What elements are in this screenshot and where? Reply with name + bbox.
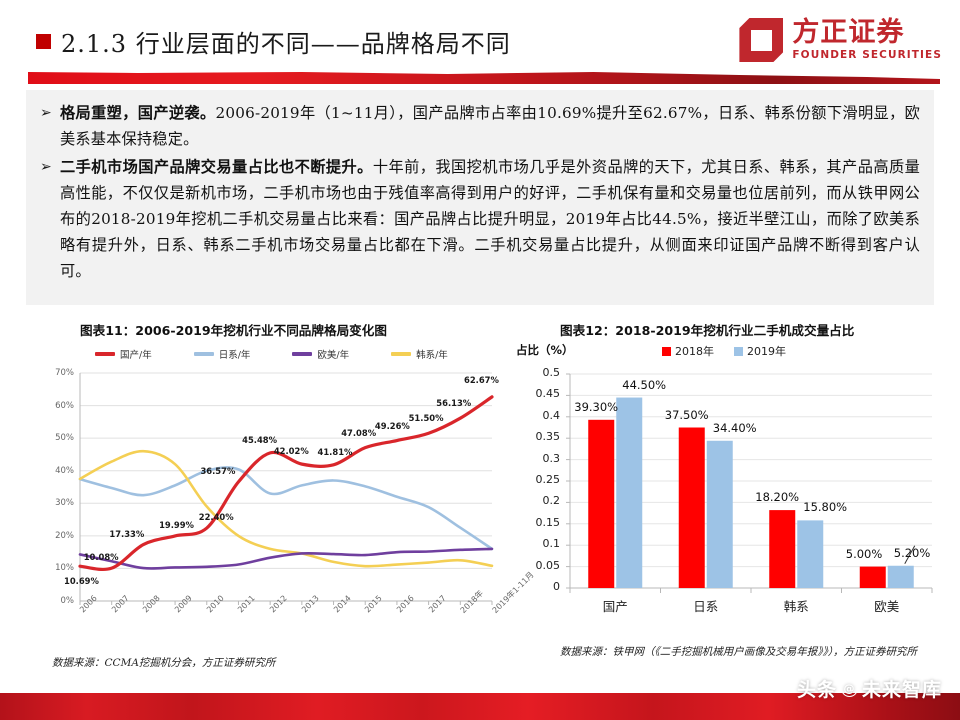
y-axis-tick-label: 0.15	[522, 516, 560, 529]
bullet-lead: 二手机市场国产品牌交易量占比也不断提升。	[60, 158, 373, 176]
bar-data-label: 44.50%	[622, 378, 666, 392]
bar-欧美-2018年	[860, 567, 886, 588]
logo-english-name: FOUNDER SECURITIES	[792, 49, 942, 61]
legend-label: 2018年	[675, 343, 714, 359]
bullet-body: 十年前，我国挖机市场几乎是外资品牌的天下，尤其日系、韩系，其产品高质量高性能，不…	[60, 158, 920, 280]
slide: 2.1.3 行业层面的不同——品牌格局不同 方正证券 FOUNDER SECUR…	[0, 0, 960, 720]
slide-header: 2.1.3 行业层面的不同——品牌格局不同 方正证券 FOUNDER SECUR…	[0, 0, 960, 86]
data-label-domestic: 10.69%	[64, 576, 99, 586]
bar-chart-y-axis-label: 占比（%）	[516, 342, 574, 358]
title-bullet-marker-icon	[36, 34, 51, 49]
bar-data-label: 18.20%	[755, 490, 799, 504]
data-label-domestic: 51.50%	[409, 413, 444, 423]
legend-item-2: 欧美/年	[292, 347, 349, 361]
data-label-domestic: 10.08%	[84, 552, 119, 562]
legend-label: 欧美/年	[317, 347, 349, 361]
legend-label: 日系/年	[219, 347, 251, 361]
bar-data-label: 5.00%	[846, 547, 883, 561]
y-axis-tick-label: 40%	[40, 466, 74, 476]
y-axis-tick-label: 20%	[40, 531, 74, 541]
y-axis-tick-label: 0.1	[522, 537, 560, 550]
bar-data-label: 5.20%	[894, 546, 931, 560]
figure-12-source: 数据来源：铁甲网（《二手挖掘机械用户画像及交易年报》》），方正证券研究所	[560, 645, 930, 660]
bar-欧美-2019年	[888, 566, 914, 588]
bar-legend-item-1: 2019年	[734, 343, 786, 359]
legend-label: 2019年	[747, 343, 786, 359]
legend-swatch-icon	[391, 352, 411, 356]
watermark-name: 未来智库	[862, 675, 942, 702]
bullet-lead: 格局重塑，国产逆袭。	[60, 104, 216, 122]
y-axis-tick-label: 0	[522, 580, 560, 593]
bar-韩系-2019年	[797, 520, 823, 588]
watermark: 头条 @ 未来智库	[797, 675, 942, 702]
bullet-item: ➢ 二手机市场国产品牌交易量占比也不断提升。十年前，我国挖机市场几乎是外资品牌的…	[40, 154, 920, 284]
data-label-domestic: 45.48%	[242, 435, 277, 445]
y-axis-tick-label: 60%	[40, 401, 74, 411]
y-axis-tick-label: 50%	[40, 433, 74, 443]
y-axis-tick-label: 0%	[40, 596, 74, 606]
legend-swatch-icon	[95, 352, 115, 356]
bullet-arrow-icon: ➢	[40, 100, 60, 152]
y-axis-tick-label: 0.35	[522, 430, 560, 443]
data-label-domestic: 41.81%	[318, 447, 353, 457]
line-chart-legend: 国产/年日系/年欧美/年韩系/年	[95, 347, 495, 361]
watermark-prefix: 头条	[797, 675, 837, 702]
y-axis-tick-label: 0.5	[522, 366, 560, 379]
y-axis-tick-label: 0.45	[522, 387, 560, 400]
figure-11-source: 数据来源：CCMA挖掘机分会，方正证券研究所	[52, 655, 275, 670]
page-title: 2.1.3 行业层面的不同——品牌格局不同	[36, 24, 511, 59]
legend-swatch-icon	[734, 347, 743, 356]
bar-韩系-2018年	[769, 510, 795, 588]
logo-chinese-name: 方正证券	[792, 19, 942, 46]
at-symbol-icon: @	[841, 680, 858, 697]
page-title-text: 2.1.3 行业层面的不同——品牌格局不同	[61, 24, 511, 59]
legend-item-1: 日系/年	[194, 347, 251, 361]
bar-data-label: 39.30%	[574, 400, 618, 414]
data-label-domestic: 36.57%	[200, 466, 235, 476]
bar-国产-2019年	[616, 398, 642, 588]
founder-logo-mark-icon	[739, 18, 783, 62]
y-axis-tick-label: 0.3	[522, 452, 560, 465]
y-axis-tick-label: 10%	[40, 563, 74, 573]
figure-12-title: 图表12：2018-2019年挖机行业二手机成交量占比	[560, 320, 854, 339]
y-axis-tick-label: 0.05	[522, 559, 560, 572]
x-axis-tick-label: 国产	[580, 596, 650, 615]
data-label-domestic: 42.02%	[274, 446, 309, 456]
body-text-panel: ➢ 格局重塑，国产逆袭。2006-2019年（1~11月），国产品牌市占率由10…	[26, 90, 934, 305]
bullet-arrow-icon: ➢	[40, 154, 60, 284]
bar-legend-item-0: 2018年	[662, 343, 714, 359]
bar-国产-2018年	[588, 420, 614, 588]
data-label-domestic: 17.33%	[109, 529, 144, 539]
bar-chart-secondhand-share: 占比（%） 2018年2019年 0.50.450.40.350.30.250.…	[512, 338, 940, 638]
x-axis-tick-label: 欧美	[852, 596, 922, 615]
line-chart-brand-share: 国产/年日系/年欧美/年韩系/年 70%60%50%40%30%20%10%0%…	[40, 345, 500, 645]
bar-data-label: 34.40%	[713, 421, 757, 435]
legend-swatch-icon	[194, 352, 214, 356]
bar-data-label: 15.80%	[803, 500, 847, 514]
y-axis-tick-label: 0.25	[522, 473, 560, 486]
header-red-divider	[28, 72, 940, 84]
line-chart-canvas	[40, 363, 500, 643]
data-label-domestic: 22.40%	[199, 512, 234, 522]
x-axis-tick-label: 日系	[671, 596, 741, 615]
data-label-domestic: 19.99%	[159, 520, 194, 530]
x-axis-tick-label: 韩系	[761, 596, 831, 615]
bar-chart-legend: 2018年2019年	[662, 343, 786, 359]
y-axis-tick-label: 30%	[40, 498, 74, 508]
bar-日系-2018年	[679, 428, 705, 589]
legend-swatch-icon	[292, 352, 312, 356]
y-axis-tick-label: 0.2	[522, 494, 560, 507]
bar-data-label: 37.50%	[665, 408, 709, 422]
y-axis-tick-label: 70%	[40, 368, 74, 378]
founder-securities-logo: 方正证券 FOUNDER SECURITIES	[739, 18, 942, 62]
bullet-text: 格局重塑，国产逆袭。2006-2019年（1~11月），国产品牌市占率由10.6…	[60, 100, 920, 152]
legend-label: 国产/年	[120, 347, 152, 361]
data-label-domestic: 47.08%	[341, 428, 376, 438]
legend-item-3: 韩系/年	[391, 347, 448, 361]
legend-swatch-icon	[662, 347, 671, 356]
data-label-domestic: 56.13%	[436, 398, 471, 408]
bar-日系-2019年	[707, 441, 733, 588]
data-label-domestic: 49.26%	[375, 421, 410, 431]
data-label-domestic: 62.67%	[464, 375, 499, 385]
bullet-item: ➢ 格局重塑，国产逆袭。2006-2019年（1~11月），国产品牌市占率由10…	[40, 100, 920, 152]
y-axis-tick-label: 0.4	[522, 409, 560, 422]
bullet-text: 二手机市场国产品牌交易量占比也不断提升。十年前，我国挖机市场几乎是外资品牌的天下…	[60, 154, 920, 284]
legend-label: 韩系/年	[416, 347, 448, 361]
figure-11-title: 图表11：2006-2019年挖机行业不同品牌格局变化图	[80, 320, 387, 339]
legend-item-0: 国产/年	[95, 347, 152, 361]
